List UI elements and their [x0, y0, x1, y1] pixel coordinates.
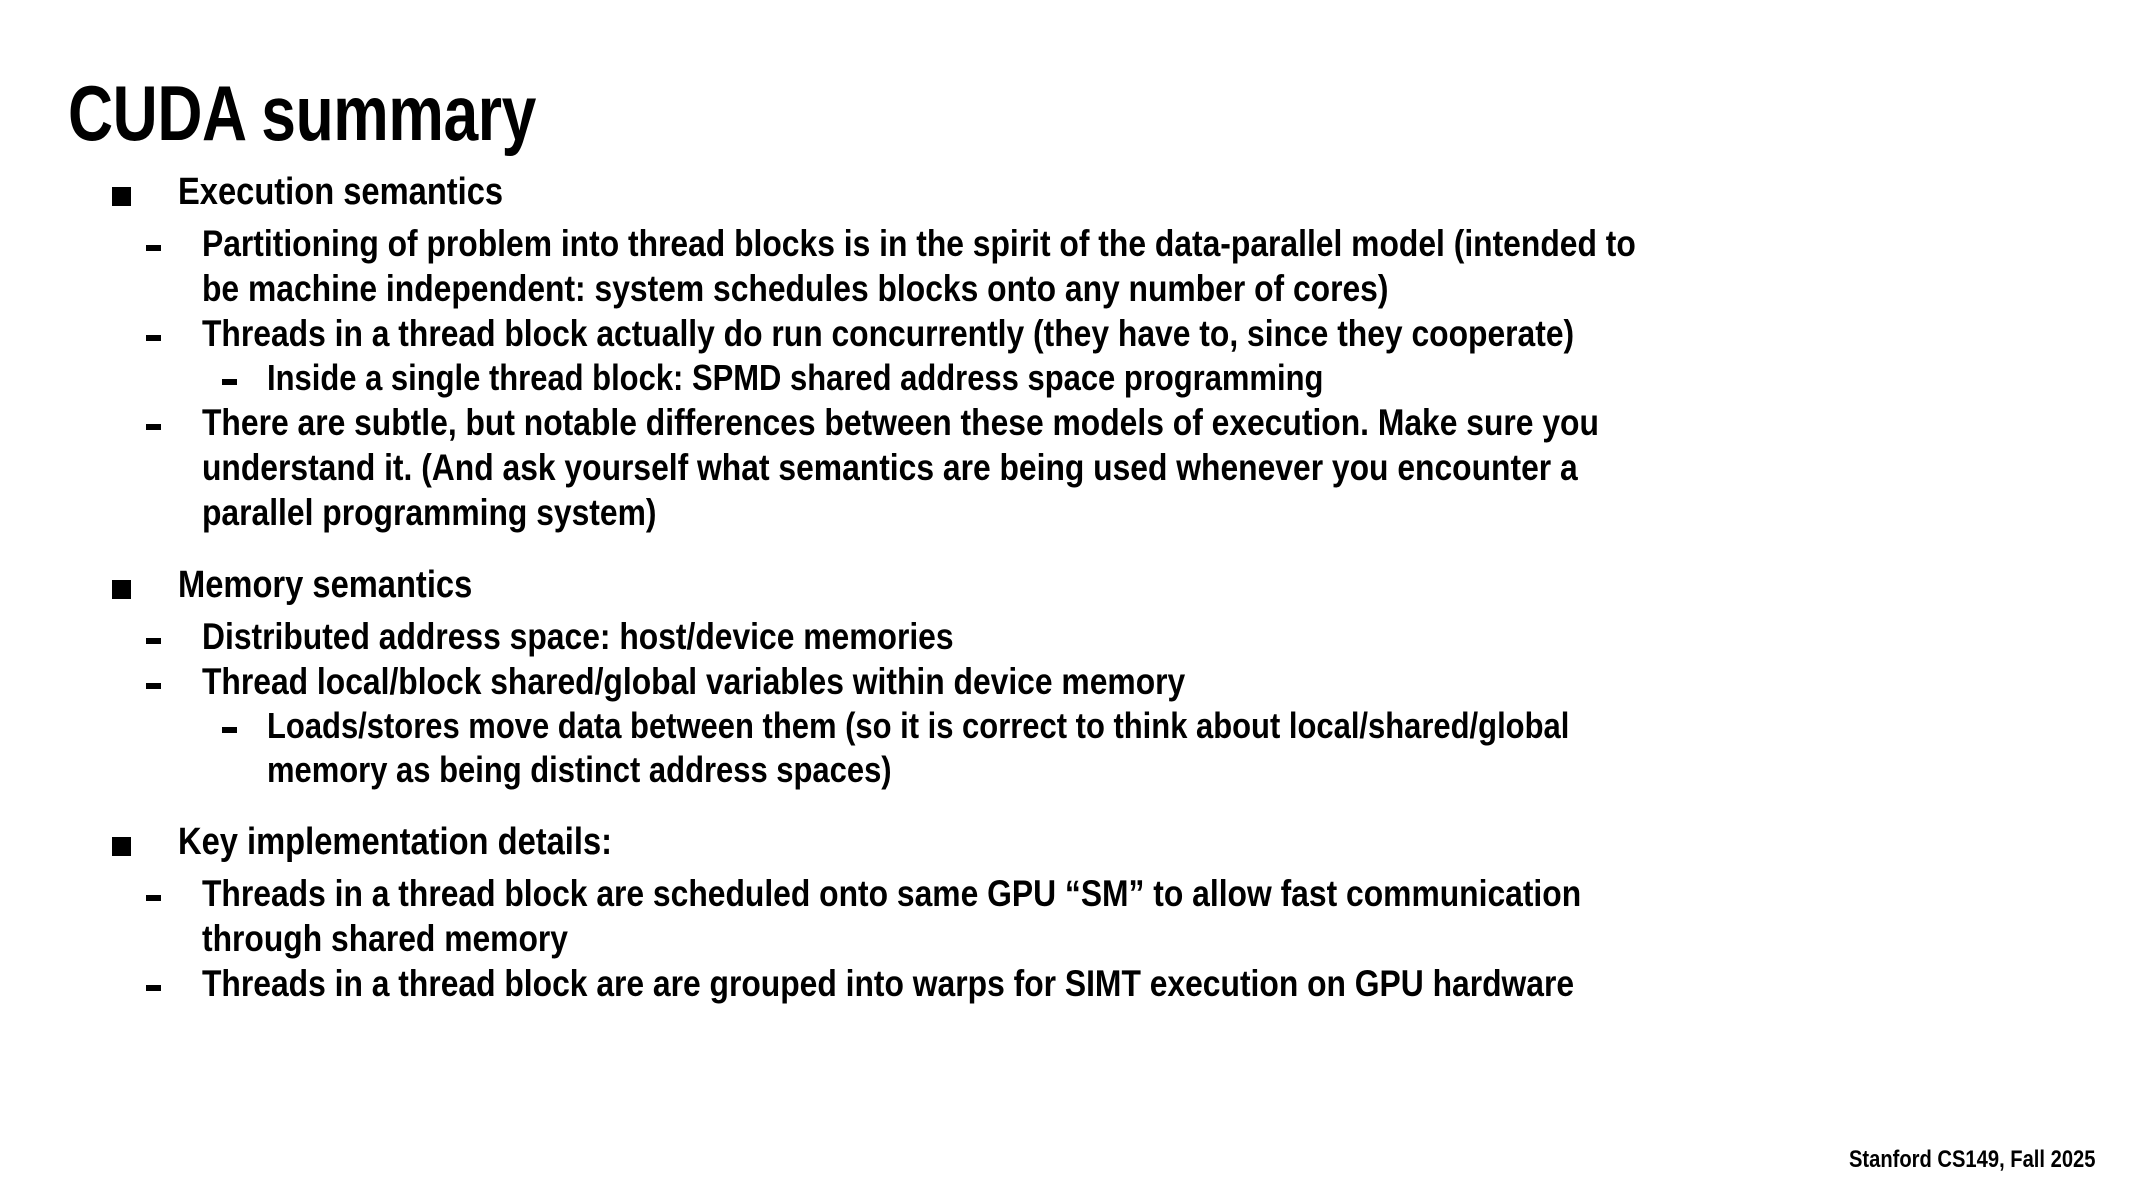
dash-bullet-icon	[222, 356, 267, 385]
section-memory-semantics: Memory semantics Distributed address spa…	[0, 561, 2133, 792]
square-bullet-icon	[112, 168, 178, 206]
bullet-item-label: There are subtle, but notable difference…	[202, 400, 1664, 535]
page-title: CUDA summary	[68, 74, 536, 154]
square-bullet-icon	[112, 818, 178, 856]
bullet-item: There are subtle, but notable difference…	[0, 400, 2133, 535]
dash-bullet-icon	[146, 311, 202, 341]
section-heading-label: Memory semantics	[178, 561, 1859, 610]
dash-bullet-icon	[146, 659, 202, 689]
bullet-item: Partitioning of problem into thread bloc…	[0, 221, 2133, 311]
dash-bullet-icon	[222, 704, 267, 733]
bullet-item-label: Threads in a thread block actually do ru…	[202, 311, 1664, 356]
bullet-item-label: Partitioning of problem into thread bloc…	[202, 221, 1664, 311]
bullet-item: Threads in a thread block are scheduled …	[0, 871, 2133, 961]
bullet-item-label: Threads in a thread block are scheduled …	[202, 871, 1664, 961]
section-heading-row: Key implementation details:	[0, 818, 2133, 867]
section-key-implementation-details: Key implementation details: Threads in a…	[0, 818, 2133, 1006]
dash-bullet-icon	[146, 871, 202, 901]
dash-bullet-icon	[146, 221, 202, 251]
slide-canvas: CUDA summary Execution semantics Partiti…	[0, 0, 2133, 1200]
bullet-item: Distributed address space: host/device m…	[0, 614, 2133, 659]
square-bullet-icon	[112, 561, 178, 599]
bullet-item: Inside a single thread block: SPMD share…	[0, 356, 2133, 400]
bullet-item-label: Thread local/block shared/global variabl…	[202, 659, 1664, 704]
slide-footer: Stanford CS149, Fall 2025	[1848, 1146, 2095, 1174]
dash-bullet-icon	[146, 614, 202, 644]
section-heading-label: Execution semantics	[178, 168, 1859, 217]
bullet-item-label: Threads in a thread block are are groupe…	[202, 961, 1664, 1006]
dash-bullet-icon	[146, 400, 202, 430]
dash-bullet-icon	[146, 961, 202, 991]
slide-body: Execution semantics Partitioning of prob…	[0, 168, 2133, 1006]
bullet-item-label: Inside a single thread block: SPMD share…	[267, 356, 1686, 400]
section-heading-row: Execution semantics	[0, 168, 2133, 217]
bullet-item-label: Distributed address space: host/device m…	[202, 614, 1664, 659]
bullet-item: Thread local/block shared/global variabl…	[0, 659, 2133, 704]
section-heading-row: Memory semantics	[0, 561, 2133, 610]
bullet-item: Threads in a thread block actually do ru…	[0, 311, 2133, 356]
bullet-item-label: Loads/stores move data between them (so …	[267, 704, 1686, 792]
bullet-item: Loads/stores move data between them (so …	[0, 704, 2133, 792]
section-execution-semantics: Execution semantics Partitioning of prob…	[0, 168, 2133, 535]
bullet-item: Threads in a thread block are are groupe…	[0, 961, 2133, 1006]
section-heading-label: Key implementation details:	[178, 818, 1859, 867]
